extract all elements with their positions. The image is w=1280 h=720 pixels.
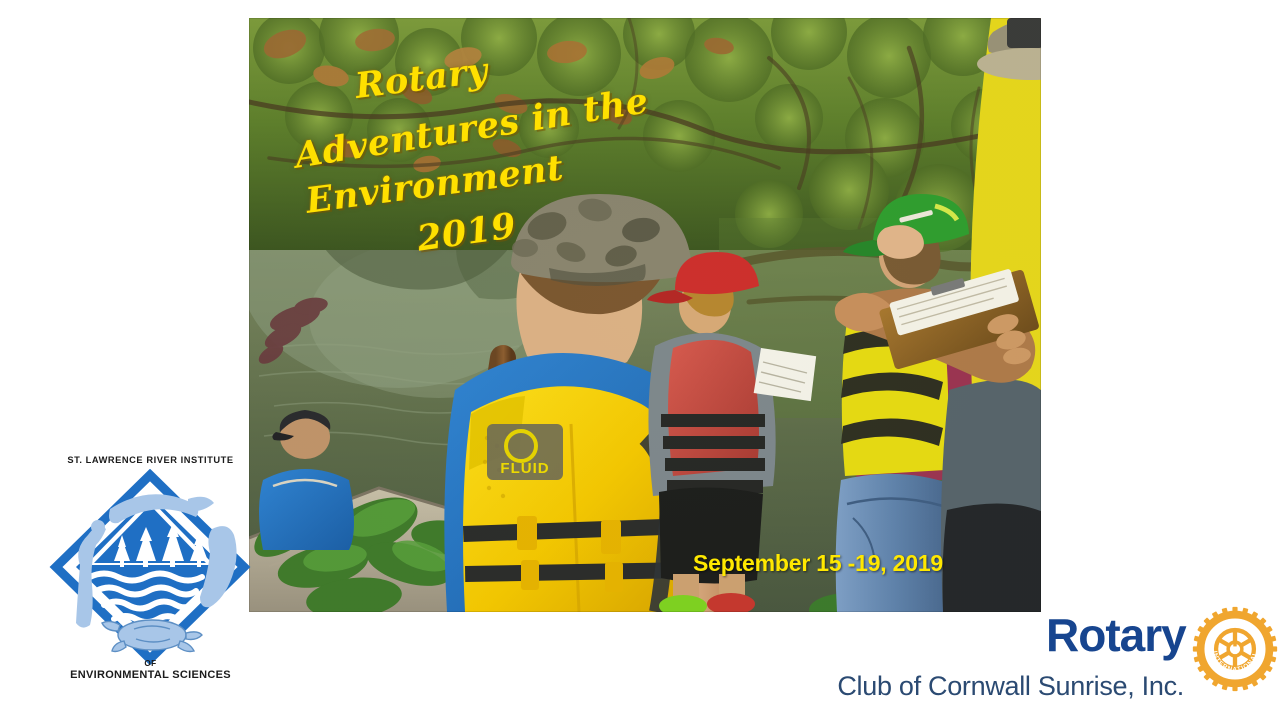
event-date-overlay: September 15 -19, 2019 — [693, 550, 943, 577]
rotary-club-logo: Rotary — [1040, 608, 1276, 708]
rotary-wordmark-row: Rotary — [1040, 608, 1276, 670]
slri-diamond-mark — [48, 469, 253, 665]
slri-top-text: ST. LAWRENCE RIVER INSTITUTE — [48, 455, 253, 465]
slri-bottom-text: ENVIRONMENTAL SCIENCES — [48, 669, 253, 681]
presentation-slide: FLUID — [0, 0, 1280, 720]
photo-illustration: FLUID — [249, 18, 1041, 612]
st-lawrence-river-institute-logo: ST. LAWRENCE RIVER INSTITUTE — [48, 455, 253, 700]
rotary-wheel-icon: ROTARY INTERNATIONAL — [1192, 606, 1278, 692]
rotary-wordmark: Rotary — [1046, 612, 1186, 658]
event-photo: FLUID — [249, 18, 1041, 612]
slri-of-text: OF — [48, 659, 253, 668]
rotary-club-name: Club of Cornwall Sunrise, Inc. — [824, 671, 1184, 702]
